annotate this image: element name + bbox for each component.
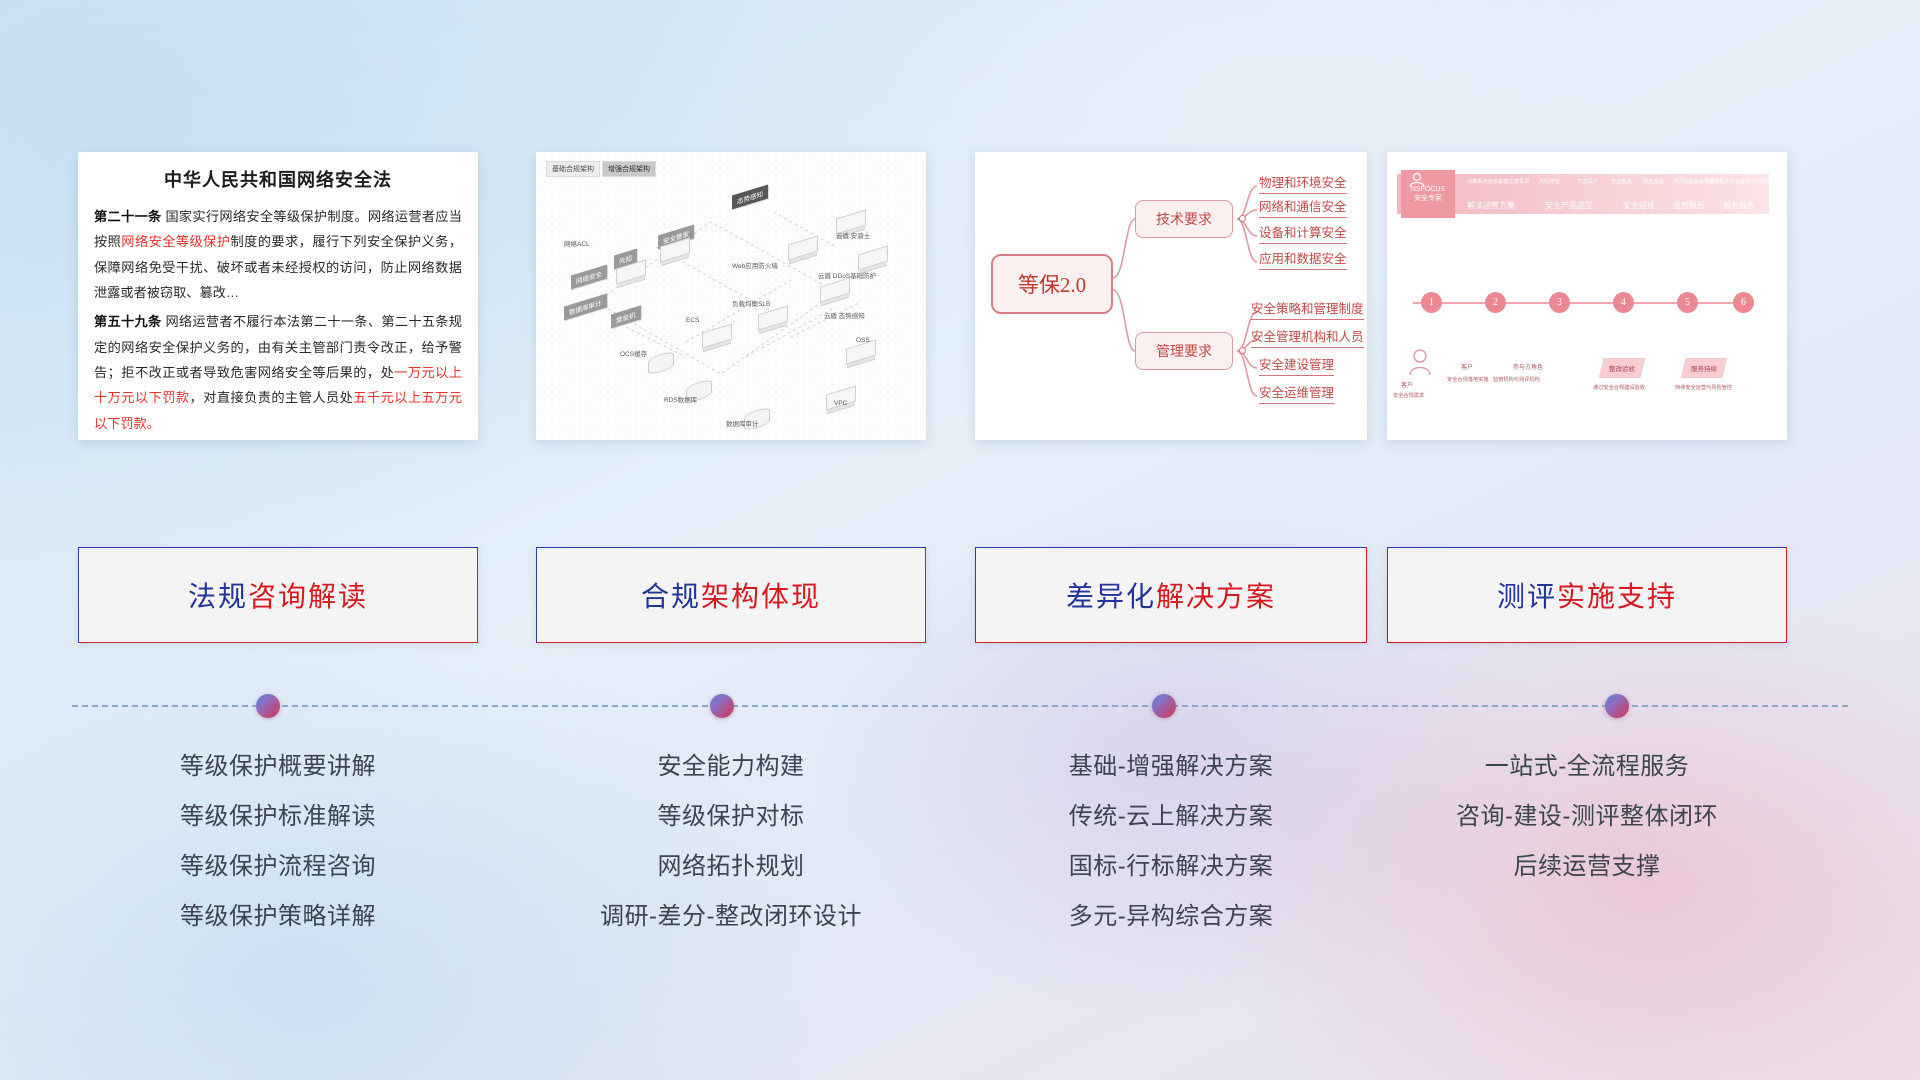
mindmap-branch-management: 管理要求 — [1135, 332, 1233, 370]
image-card-row: 中华人民共和国网络安全法 第二十一条 国家实行网络安全等级保护制度。网络运营者应… — [0, 152, 1920, 442]
arch-label-oss: OSS — [856, 337, 870, 344]
list-item: 等级保护概要讲解 — [78, 742, 478, 792]
mindmap-collapse-dot-management[interactable] — [1239, 347, 1246, 354]
mindmap-branch-technical: 技术要求 — [1135, 200, 1233, 238]
timeline — [0, 694, 1920, 718]
section-label-2: 合规架构体现 — [641, 575, 821, 615]
section-label-4-prefix: 测评 — [1497, 581, 1557, 612]
law-article-number: 第五十九条 — [94, 314, 161, 329]
nsfocus-phase-tag-2: 安全产品选型 — [1545, 200, 1593, 211]
nsfocus-step-1: 1 — [1421, 292, 1442, 313]
nsfocus-expert-icon — [1407, 172, 1427, 188]
section-button-row: 法规咨询解读 合规架构体现 差异化解决方案 测评实施支持 — [0, 547, 1920, 643]
arch-label-shitaiganzhi: 云盾 态势感知 — [824, 310, 865, 320]
nsfocus-person-1-sub: 安全合规需求 — [1393, 392, 1424, 399]
nsfocus-brand-sub: 安全专家 — [1414, 194, 1442, 203]
list-item: 国标-行标解决方案 — [975, 842, 1367, 892]
law-document: 中华人民共和国网络安全法 第二十一条 国家实行网络安全等级保护制度。网络运营者应… — [78, 152, 478, 440]
card-nsfocus-timeline[interactable]: NSFOCUS 安全专家 动静系统定级备案注意事项 风险排查 方案设计 安全整改… — [1387, 152, 1787, 440]
section-button-differentiated-solution[interactable]: 差异化解决方案 — [975, 547, 1367, 643]
section-button-regulation-consulting[interactable]: 法规咨询解读 — [78, 547, 478, 643]
nsfocus-phase-tag-5: 服务报告 — [1723, 200, 1755, 211]
nsfocus-para-label-1: 整改验收 — [1609, 363, 1635, 373]
section-label-1: 法规咨询解读 — [188, 575, 368, 615]
nsfocus-person-3-sub: 监管机构与测评机构 — [1493, 376, 1540, 383]
mindmap-collapse-dot-technical[interactable] — [1239, 215, 1246, 222]
mindmap-leaf-app-data: 应用和数据安全 — [1259, 248, 1347, 270]
nsfocus-band-tag-7: 系统整改安全建设合规落地要点 — [1709, 178, 1782, 185]
nsfocus-band-tag-4: 安全整改 — [1611, 178, 1632, 185]
list-item: 等级保护对标 — [536, 792, 926, 842]
law-seg: ，对直接负责的主管人员处 — [190, 390, 354, 405]
detail-list-evaluation-support: 一站式-全流程服务 咨询-建设-测评整体闭环 后续运营支撑 — [1387, 742, 1787, 892]
list-item: 基础-增强解决方案 — [975, 742, 1367, 792]
detail-list-differentiated-solution: 基础-增强解决方案 传统-云上解决方案 国标-行标解决方案 多元-异构综合方案 — [975, 742, 1367, 942]
nsfocus-step-3: 3 — [1549, 292, 1570, 313]
detail-list-compliance-architecture: 安全能力构建 等级保护对标 网络拓扑规划 调研-差分-整改闭环设计 — [536, 742, 926, 942]
nsfocus-customer-icon — [1407, 348, 1433, 378]
arch-label-slb: 负载均衡SLB — [732, 298, 770, 308]
arch-label-rds: RDS数据库 — [664, 394, 697, 404]
law-paragraph-59: 第五十九条 网络运营者不履行本法第二十一条、第二十五条规定的网络安全保护义务的，… — [94, 309, 462, 436]
mindmap-leaf-network-comm: 网络和通信安全 — [1259, 196, 1347, 218]
nsfocus-para-label-2: 服务持续 — [1691, 363, 1717, 373]
nsfocus-band-tag-3: 方案设计 — [1577, 178, 1598, 185]
nsfocus-phase-tag-3: 安全运维 — [1623, 200, 1655, 211]
nsfocus-step-4: 4 — [1613, 292, 1634, 313]
timeline-node-3[interactable] — [1152, 694, 1176, 718]
arch-label-network-acl: 网络ACL — [564, 238, 590, 248]
list-item: 后续运营支撑 — [1387, 842, 1787, 892]
mindmap-root-node: 等保2.0 — [991, 254, 1113, 314]
mindmap-leaf-construction-mgmt: 安全建设管理 — [1259, 354, 1334, 376]
arch-label-vpc: VPC — [834, 400, 847, 407]
architecture-diagram: 基础合规架构 增强合规架构 态势感知 安全管家 先知 网络安全 数据库审计 — [536, 152, 926, 440]
list-item: 等级保护流程咨询 — [78, 842, 478, 892]
section-button-evaluation-support[interactable]: 测评实施支持 — [1387, 547, 1787, 643]
arch-label-waf: Web应用防火墙 — [732, 260, 778, 270]
nsfocus-diagram: NSFOCUS 安全专家 动静系统定级备案注意事项 风险排查 方案设计 安全整改… — [1387, 152, 1787, 440]
nsfocus-step-6: 6 — [1733, 292, 1754, 313]
nsfocus-phase-tag-4: 运营报告 — [1673, 200, 1705, 211]
nsfocus-band-tag-1: 动静系统定级备案注意事项 — [1467, 178, 1529, 185]
mindmap-leaf-org-personnel: 安全管理机构和人员 — [1251, 326, 1364, 348]
list-item: 一站式-全流程服务 — [1387, 742, 1787, 792]
nsfocus-step-5: 5 — [1677, 292, 1698, 313]
arch-label-anqishi: 云盾 安骑士 — [836, 230, 870, 240]
list-item: 安全能力构建 — [536, 742, 926, 792]
nsfocus-band-tag-5: 服务加固 — [1643, 178, 1664, 185]
nsfocus-person-1-title: 客户 — [1401, 380, 1413, 389]
law-seg-highlight: 网络安全等级保护 — [121, 234, 230, 249]
nsfocus-para-sub-1: 通过安全合规建设验收 — [1593, 384, 1645, 391]
list-item: 传统-云上解决方案 — [975, 792, 1367, 842]
card-dengbao-mindmap[interactable]: 等保2.0 技术要求 管理要求 物理和环境安全 网络和通信安全 设备和计算安全 … — [975, 152, 1367, 440]
nsfocus-timeline-axis — [1413, 302, 1753, 304]
arch-label-ocs: OCS缓存 — [620, 348, 647, 358]
card-cybersecurity-law[interactable]: 中华人民共和国网络安全法 第二十一条 国家实行网络安全等级保护制度。网络运营者应… — [78, 152, 478, 440]
list-item: 等级保护标准解读 — [78, 792, 478, 842]
detail-list-regulation-consulting: 等级保护概要讲解 等级保护标准解读 等级保护流程咨询 等级保护策略详解 — [78, 742, 478, 942]
mindmap-leaf-device-compute: 设备和计算安全 — [1259, 222, 1347, 244]
nsfocus-phase-tag-1: 解读运营方案 — [1467, 200, 1515, 211]
timeline-dashed-line — [72, 705, 1848, 707]
mindmap-leaf-physical-env: 物理和环境安全 — [1259, 172, 1347, 194]
nsfocus-person-2-title: 客户 — [1461, 362, 1473, 371]
list-item: 咨询-建设-测评整体闭环 — [1387, 792, 1787, 842]
mindmap-leaf-ops-mgmt: 安全运维管理 — [1259, 382, 1334, 404]
timeline-node-1[interactable] — [256, 694, 280, 718]
nsfocus-step-2: 2 — [1485, 292, 1506, 313]
mindmap-leaf-policy-system: 安全策略和管理制度 — [1251, 298, 1364, 320]
nsfocus-person-2-sub: 安全合规落地实施 — [1447, 376, 1489, 383]
list-item: 等级保护策略详解 — [78, 892, 478, 942]
nsfocus-band-tag-2: 风险排查 — [1539, 178, 1560, 185]
nsfocus-para-sub-2: 持续安全运营与风险管控 — [1675, 384, 1732, 391]
section-label-1-suffix: 咨询解读 — [248, 581, 368, 612]
law-title: 中华人民共和国网络安全法 — [94, 166, 462, 192]
section-label-2-suffix: 架构体现 — [701, 581, 821, 612]
nsfocus-person-3-title: 参与方角色 — [1513, 362, 1543, 371]
list-item: 调研-差分-整改闭环设计 — [536, 892, 926, 942]
law-paragraph-21: 第二十一条 国家实行网络安全等级保护制度。网络运营者应当按照网络安全等级保护制度… — [94, 204, 462, 305]
card-compliance-architecture[interactable]: 基础合规架构 增强合规架构 态势感知 安全管家 先知 网络安全 数据库审计 — [536, 152, 926, 440]
section-label-3-prefix: 差异化 — [1066, 581, 1156, 612]
nsfocus-parallelogram-1: 整改验收 — [1599, 358, 1646, 378]
arch-label-ecs: ECS — [686, 317, 699, 324]
mindmap: 等保2.0 技术要求 管理要求 物理和环境安全 网络和通信安全 设备和计算安全 … — [975, 152, 1367, 440]
list-item: 网络拓扑规划 — [536, 842, 926, 892]
list-item: 多元-异构综合方案 — [975, 892, 1367, 942]
section-label-3: 差异化解决方案 — [1066, 575, 1276, 615]
section-label-1-prefix: 法规 — [188, 581, 248, 612]
nsfocus-parallelogram-2: 服务持续 — [1681, 358, 1728, 378]
arch-label-db-audit: 数据库审计 — [726, 418, 759, 428]
law-article-number: 第二十一条 — [94, 209, 161, 224]
section-label-3-suffix: 解决方案 — [1156, 581, 1276, 612]
arch-label-ddos: 云盾 DDoS基础防护 — [818, 270, 876, 280]
section-label-4-suffix: 实施支持 — [1557, 581, 1677, 612]
section-label-2-prefix: 合规 — [641, 581, 701, 612]
timeline-node-4[interactable] — [1605, 694, 1629, 718]
detail-list-row: 等级保护概要讲解 等级保护标准解读 等级保护流程咨询 等级保护策略详解 安全能力… — [0, 742, 1920, 972]
timeline-node-2[interactable] — [710, 694, 734, 718]
section-button-compliance-architecture[interactable]: 合规架构体现 — [536, 547, 926, 643]
section-label-4: 测评实施支持 — [1497, 575, 1677, 615]
